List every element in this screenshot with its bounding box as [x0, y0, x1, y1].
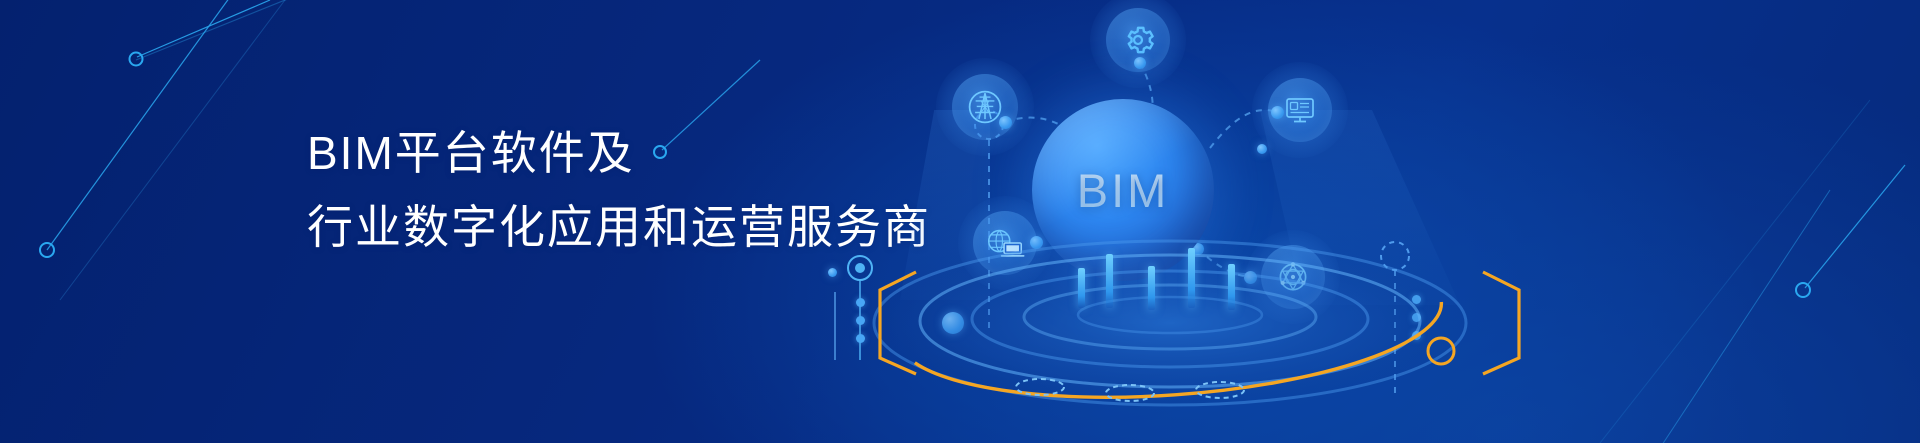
bim-illustration: BIM	[840, 0, 1920, 443]
data-bar-4	[1188, 248, 1195, 308]
hero-banner: BIM平台软件及 行业数字化应用和运营服务商	[0, 0, 1920, 443]
connector-node-tower	[999, 116, 1012, 129]
monitor-icon	[1280, 90, 1320, 130]
data-bar-5	[1228, 264, 1235, 310]
monitor-icon-bubble[interactable]	[1252, 62, 1348, 158]
gear-icon-bubble[interactable]	[1090, 0, 1186, 88]
data-bar-3	[1148, 266, 1155, 310]
data-bar-1	[1078, 268, 1085, 308]
gear-icon	[1121, 23, 1155, 57]
connector-node-monitor	[1271, 106, 1284, 119]
power-tower-icon-bubble[interactable]	[936, 58, 1034, 156]
orbital-platform	[840, 235, 1920, 443]
headline-line-1: BIM平台软件及	[307, 116, 931, 190]
connector-node-gear	[1134, 57, 1146, 69]
hero-headline: BIM平台软件及 行业数字化应用和运营服务商	[307, 116, 931, 264]
orange-bracket-left	[870, 268, 940, 378]
orange-ring-marker	[1420, 330, 1462, 372]
connector-node-monitor-small	[1257, 144, 1267, 154]
orange-bracket-right	[1465, 268, 1535, 378]
data-bar-2	[1106, 254, 1113, 308]
